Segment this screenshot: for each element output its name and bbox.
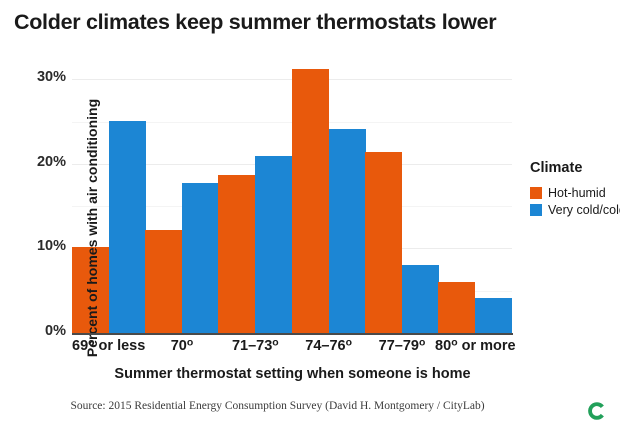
legend-swatch-icon <box>530 187 542 199</box>
x-tick-label: 80o or more <box>405 338 545 354</box>
legend-entry-0[interactable]: Hot-humid <box>530 185 618 200</box>
legend: Climate Hot-humidVery cold/cold <box>530 160 618 219</box>
bar-hot-humid-4 <box>365 152 402 333</box>
bar-hot-humid-1 <box>145 230 182 333</box>
legend-title: Climate <box>530 160 618 176</box>
bar-very-cold-cold-2 <box>255 156 292 333</box>
legend-entry-label: Hot-humid <box>548 186 606 200</box>
y-tick-label: 30% <box>0 69 66 85</box>
legend-entry-label: Very cold/cold <box>548 203 620 217</box>
y-tick-label: 10% <box>0 238 66 254</box>
bar-hot-humid-2 <box>218 175 255 333</box>
citylab-c-logo <box>586 400 608 422</box>
page-title: Colder climates keep summer thermostats … <box>14 10 594 35</box>
bar-very-cold-cold-3 <box>329 129 366 333</box>
bar-very-cold-cold-5 <box>475 298 512 333</box>
legend-entries: Hot-humidVery cold/cold <box>530 185 618 217</box>
bar-very-cold-cold-1 <box>182 183 219 333</box>
plot-area: Percent of homes with air conditioning <box>72 60 512 333</box>
x-axis-title: Summer thermostat setting when someone i… <box>72 366 513 382</box>
bar-very-cold-cold-4 <box>402 265 439 333</box>
x-axis-line <box>72 333 513 335</box>
bar-very-cold-cold-0 <box>109 121 146 333</box>
bar-hot-humid-3 <box>292 69 329 333</box>
y-tick-label: 20% <box>0 154 66 170</box>
bar-hot-humid-5 <box>438 282 475 333</box>
y-tick-label: 0% <box>0 323 66 339</box>
legend-swatch-icon <box>530 204 542 216</box>
chart-figure: Colder climates keep summer thermostats … <box>0 0 620 428</box>
source-note: Source: 2015 Residential Energy Consumpt… <box>0 400 555 412</box>
legend-entry-1[interactable]: Very cold/cold <box>530 202 618 217</box>
